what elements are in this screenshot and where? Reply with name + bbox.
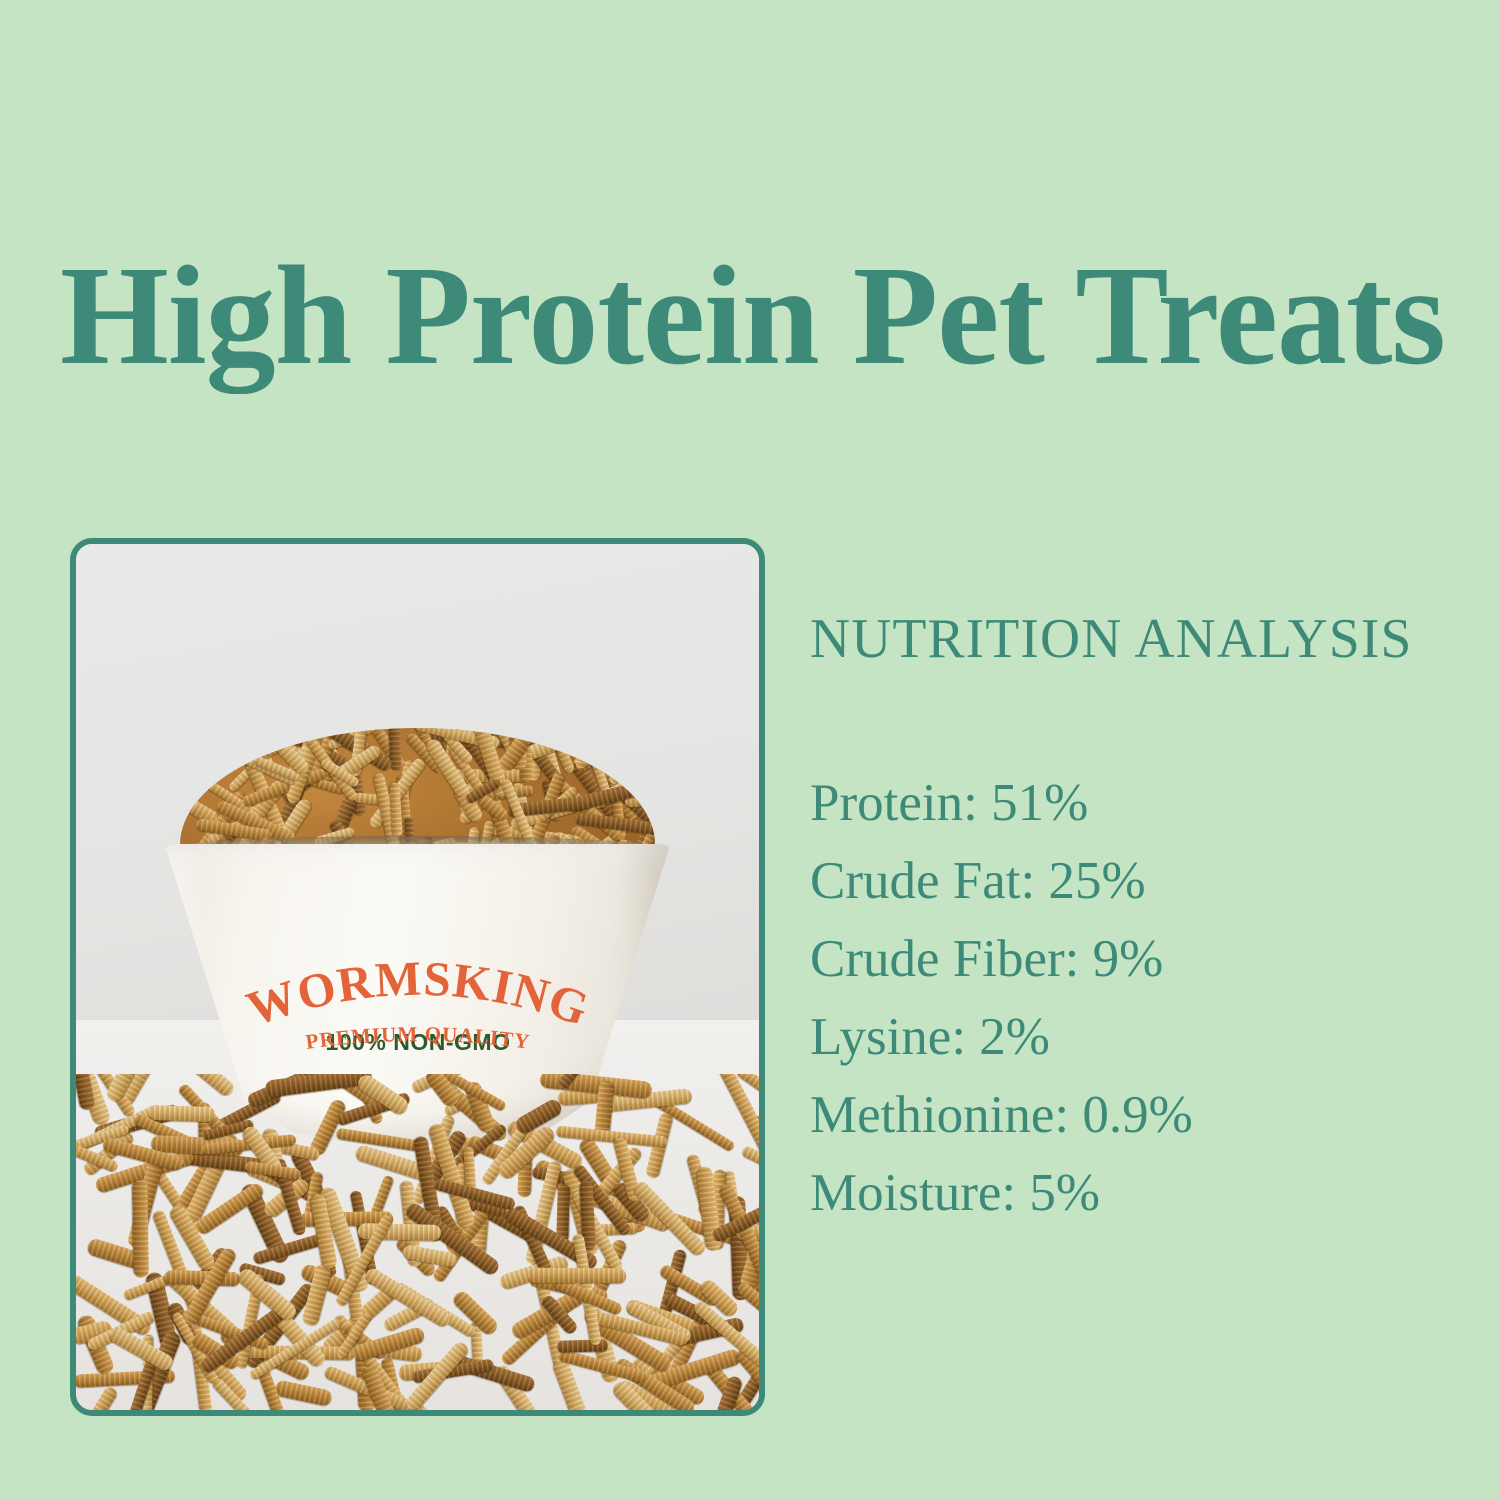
mealworm bbox=[527, 1267, 625, 1283]
product-photo-frame: WORMSKING 100% NON-GMO PREMIUM QUALITY bbox=[70, 538, 765, 1416]
nutrition-item: Protein: 51% bbox=[810, 764, 1470, 842]
product-photo: WORMSKING 100% NON-GMO PREMIUM QUALITY bbox=[76, 544, 759, 1410]
nutrition-list: Protein: 51%Crude Fat: 25%Crude Fiber: 9… bbox=[810, 764, 1470, 1232]
mealworm bbox=[741, 1145, 759, 1200]
mealworm bbox=[557, 1339, 609, 1352]
nutrition-item: Crude Fat: 25% bbox=[810, 842, 1470, 920]
mealworm bbox=[556, 1125, 667, 1147]
scattered-mealworms bbox=[76, 1074, 759, 1410]
nutrition-item: Crude Fiber: 9% bbox=[810, 920, 1470, 998]
page-title: High Protein Pet Treats bbox=[60, 235, 1439, 395]
nutrition-item: Methionine: 0.9% bbox=[810, 1076, 1470, 1154]
nutrition-item: Lysine: 2% bbox=[810, 998, 1470, 1076]
mealworm bbox=[274, 1380, 333, 1407]
mealworm bbox=[132, 1180, 149, 1277]
nutrition-panel: NUTRITION ANALYSIS Protein: 51%Crude Fat… bbox=[810, 606, 1470, 1232]
mealworm bbox=[336, 1127, 420, 1151]
mealworm bbox=[148, 1105, 215, 1122]
nutrition-item: Moisture: 5% bbox=[810, 1154, 1470, 1232]
nutrition-heading: NUTRITION ANALYSIS bbox=[810, 606, 1463, 672]
product-infographic: High Protein Pet Treats WORMSKING bbox=[0, 0, 1500, 1500]
mealworm bbox=[84, 1385, 119, 1410]
